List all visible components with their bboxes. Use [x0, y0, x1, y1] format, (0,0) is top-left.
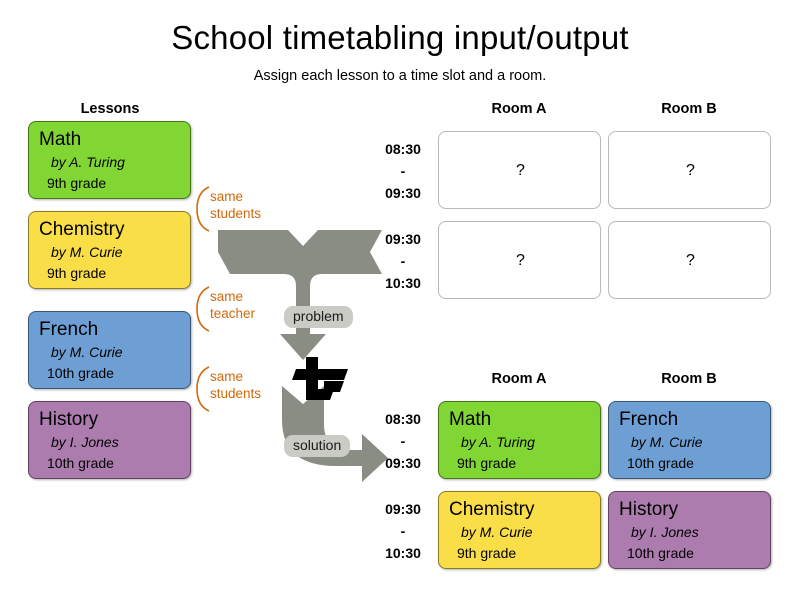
timeslot-end: 10:30	[372, 272, 434, 294]
lesson-grade: 10th grade	[39, 363, 190, 383]
problem-arrow-icon	[218, 230, 382, 360]
lesson-teacher: by M. Curie	[39, 342, 190, 363]
lesson-teacher: by A. Turing	[39, 152, 190, 173]
lesson-teacher: by I. Jones	[39, 432, 190, 453]
lesson-teacher: by M. Curie	[39, 242, 190, 263]
timeslot-dash: -	[372, 160, 434, 182]
problem-timeslot-label-0: 08:30 - 09:30	[372, 138, 434, 204]
problem-label-pill: problem	[284, 306, 353, 328]
lesson-grade: 10th grade	[619, 453, 770, 473]
lesson-teacher: by I. Jones	[619, 522, 770, 543]
problem-cell-unassigned[interactable]: ?	[608, 221, 771, 299]
solution-timeslot-label-0: 08:30 - 09:30	[372, 408, 434, 474]
lesson-grade: 10th grade	[39, 453, 190, 473]
lesson-grade: 9th grade	[39, 173, 190, 193]
curly-bracket-icon	[196, 186, 210, 232]
timeslot-start: 09:30	[372, 498, 434, 520]
solution-cell-french[interactable]: French by M. Curie 10th grade	[608, 401, 771, 479]
constraint-label: same students	[210, 188, 284, 222]
problem-cell-unassigned[interactable]: ?	[608, 131, 771, 209]
constraint-label-line1: same	[210, 188, 284, 205]
lesson-name: Chemistry	[449, 497, 600, 522]
question-mark-placeholder: ?	[439, 162, 602, 180]
timeslot-start: 09:30	[372, 228, 434, 250]
solution-grid-room-b-header: Room B	[608, 370, 770, 388]
lesson-name: History	[619, 497, 770, 522]
lesson-name: History	[39, 407, 190, 432]
lessons-column-header: Lessons	[30, 100, 190, 118]
solution-timeslot-label-1: 09:30 - 10:30	[372, 498, 434, 564]
lesson-name: French	[39, 317, 190, 342]
lesson-name: French	[619, 407, 770, 432]
timeslot-start: 08:30	[372, 138, 434, 160]
lesson-teacher: by M. Curie	[619, 432, 770, 453]
problem-timeslot-label-1: 09:30 - 10:30	[372, 228, 434, 294]
solution-cell-math[interactable]: Math by A. Turing 9th grade	[438, 401, 601, 479]
lesson-grade: 9th grade	[39, 263, 190, 283]
lesson-name: Math	[449, 407, 600, 432]
lesson-grade: 9th grade	[449, 453, 600, 473]
problem-cell-unassigned[interactable]: ?	[438, 221, 601, 299]
timeslot-dash: -	[372, 250, 434, 272]
problem-grid-room-a-header: Room A	[438, 100, 600, 118]
lesson-card-chemistry[interactable]: Chemistry by M. Curie 9th grade	[28, 211, 191, 289]
curly-bracket-icon	[196, 286, 210, 332]
question-mark-placeholder: ?	[609, 162, 772, 180]
problem-grid-room-b-header: Room B	[608, 100, 770, 118]
lesson-grade: 9th grade	[449, 543, 600, 563]
timeslot-dash: -	[372, 520, 434, 542]
lesson-card-history[interactable]: History by I. Jones 10th grade	[28, 401, 191, 479]
timeslot-dash: -	[372, 430, 434, 452]
lesson-name: Math	[39, 127, 190, 152]
timeslot-end: 10:30	[372, 542, 434, 564]
timeslot-start: 08:30	[372, 408, 434, 430]
page-title: School timetabling input/output	[0, 18, 800, 58]
solution-cell-history[interactable]: History by I. Jones 10th grade	[608, 491, 771, 569]
lesson-card-french[interactable]: French by M. Curie 10th grade	[28, 311, 191, 389]
lesson-name: Chemistry	[39, 217, 190, 242]
lesson-teacher: by A. Turing	[449, 432, 600, 453]
curly-bracket-icon	[196, 366, 210, 412]
timeslot-end: 09:30	[372, 182, 434, 204]
page-subtitle: Assign each lesson to a time slot and a …	[0, 66, 800, 86]
lesson-teacher: by M. Curie	[449, 522, 600, 543]
problem-cell-unassigned[interactable]: ?	[438, 131, 601, 209]
solution-label-pill: solution	[284, 435, 350, 457]
question-mark-placeholder: ?	[439, 252, 602, 270]
lesson-card-math[interactable]: Math by A. Turing 9th grade	[28, 121, 191, 199]
question-mark-placeholder: ?	[609, 252, 772, 270]
solution-grid-room-a-header: Room A	[438, 370, 600, 388]
lesson-grade: 10th grade	[619, 543, 770, 563]
timeslot-end: 09:30	[372, 452, 434, 474]
solution-cell-chemistry[interactable]: Chemistry by M. Curie 9th grade	[438, 491, 601, 569]
constraint-label-line2: students	[210, 205, 284, 222]
timefold-logo	[288, 355, 354, 405]
